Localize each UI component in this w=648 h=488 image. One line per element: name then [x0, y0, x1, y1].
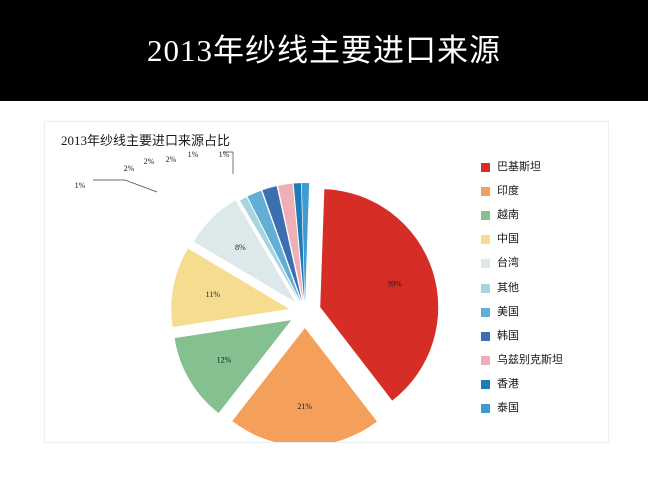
legend-item-label: 印度: [497, 186, 519, 197]
slide-root: 2013年纱线主要进口来源 2013年纱线主要进口来源占比 39%21%12%1…: [0, 0, 648, 488]
pie-data-label: 12%: [217, 356, 232, 365]
chart-legend[interactable]: 巴基斯坦印度越南中国台湾其他美国韩国乌兹别克斯坦香港泰国: [481, 155, 605, 421]
legend-color-swatch: [481, 259, 490, 268]
legend-item[interactable]: 其他: [481, 276, 605, 300]
pie-data-label-outside: 2%: [124, 164, 135, 173]
legend-item-label: 韩国: [497, 331, 519, 342]
legend-color-swatch: [481, 404, 490, 413]
legend-item[interactable]: 泰国: [481, 397, 605, 421]
leader-line: [93, 180, 157, 192]
legend-color-swatch: [481, 356, 490, 365]
pie-data-label: 11%: [206, 290, 221, 299]
legend-item[interactable]: 韩国: [481, 324, 605, 348]
pie-data-label: 21%: [297, 402, 312, 411]
pie-leader-lines-group: [93, 152, 233, 192]
legend-item-label: 美国: [497, 307, 519, 318]
pie-data-label: 39%: [387, 279, 402, 288]
legend-item[interactable]: 乌兹别克斯坦: [481, 349, 605, 373]
legend-item-label: 中国: [497, 234, 519, 245]
legend-item-label: 巴基斯坦: [497, 162, 541, 173]
legend-item[interactable]: 美国: [481, 300, 605, 324]
legend-item[interactable]: 越南: [481, 203, 605, 227]
legend-color-swatch: [481, 187, 490, 196]
page-title: 2013年纱线主要进口来源: [147, 35, 501, 66]
pie-data-label-outside: 2%: [144, 157, 155, 166]
legend-item-label: 乌兹别克斯坦: [497, 355, 563, 366]
legend-item-label: 香港: [497, 379, 519, 390]
pie-data-label-outside: 1%: [219, 150, 230, 159]
legend-item-label: 其他: [497, 283, 519, 294]
pie-data-label-outside: 1%: [188, 150, 199, 159]
pie-data-label: 8%: [235, 243, 246, 252]
pie-chart-svg[interactable]: 39%21%12%11%8%1%2%2%2%1%1%: [53, 144, 473, 442]
title-banner: 2013年纱线主要进口来源: [0, 0, 648, 101]
legend-item-label: 越南: [497, 210, 519, 221]
pie-data-label-outside: 2%: [166, 155, 177, 164]
legend-item[interactable]: 台湾: [481, 252, 605, 276]
legend-color-swatch: [481, 380, 490, 389]
legend-color-swatch: [481, 308, 490, 317]
legend-item-label: 泰国: [497, 403, 519, 414]
legend-item[interactable]: 香港: [481, 373, 605, 397]
pie-data-label-outside: 1%: [75, 181, 86, 190]
chart-panel[interactable]: 2013年纱线主要进口来源占比 39%21%12%11%8%1%2%2%2%1%…: [44, 121, 609, 443]
legend-color-swatch: [481, 332, 490, 341]
legend-item-label: 台湾: [497, 258, 519, 269]
legend-item[interactable]: 印度: [481, 179, 605, 203]
legend-item[interactable]: 巴基斯坦: [481, 155, 605, 179]
pie-chart-plot-area[interactable]: 39%21%12%11%8%1%2%2%2%1%1%: [53, 144, 473, 442]
legend-color-swatch: [481, 284, 490, 293]
legend-color-swatch: [481, 211, 490, 220]
pie-slice[interactable]: [320, 189, 438, 400]
legend-item[interactable]: 中国: [481, 228, 605, 252]
legend-color-swatch: [481, 235, 490, 244]
legend-color-swatch: [481, 163, 490, 172]
